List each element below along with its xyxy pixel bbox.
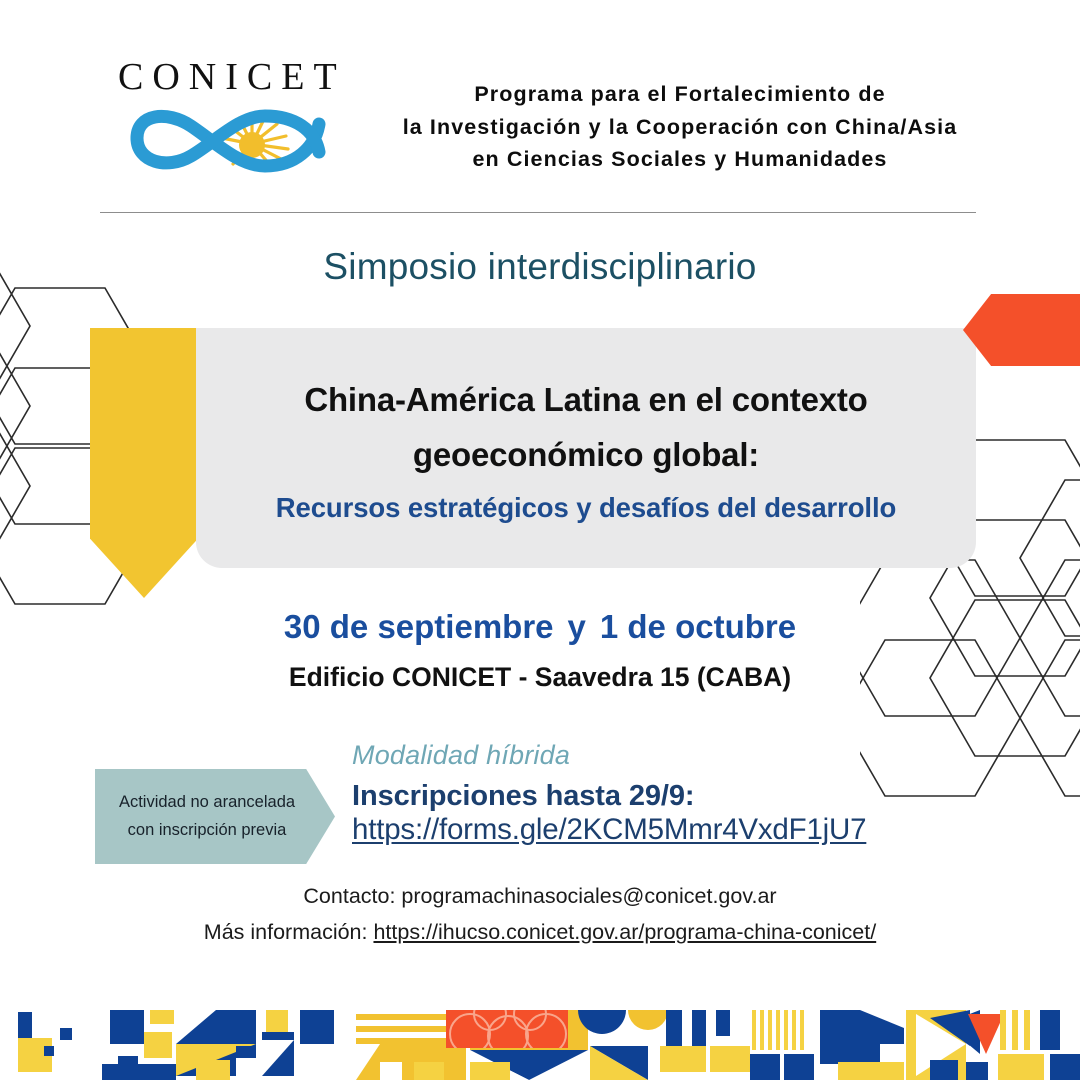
geometric-pattern-band (0, 984, 1080, 1080)
program-title: Programa para el Fortalecimiento de la I… (350, 78, 1010, 176)
poster-header: CONICET (0, 0, 1080, 200)
event-title-line-1: China-América Latina en el contexto (304, 372, 867, 427)
poster-canvas: CONICET (0, 0, 1080, 1080)
more-info-link[interactable]: https://ihucso.conicet.gov.ar/programa-c… (373, 920, 876, 944)
badge-line-2: con inscripción previa (119, 817, 295, 844)
conicet-infinity-sun-icon (112, 100, 338, 183)
event-subtitle: Recursos estratégicos y desafíos del des… (276, 492, 896, 524)
yellow-arrow-accent (90, 328, 198, 598)
registration-deadline: Inscripciones hasta 29/9: (352, 780, 866, 813)
program-title-line-2: la Investigación y la Cooperación con Ch… (350, 111, 1010, 144)
program-title-line-3: en Ciencias Sociales y Humanidades (350, 143, 1010, 176)
free-activity-badge: Actividad no arancelada con inscripción … (95, 769, 335, 864)
free-activity-badge-text: Actividad no arancelada con inscripción … (119, 789, 311, 843)
event-date-conjunction: y (568, 608, 586, 645)
event-date-part-2: 1 de octubre (600, 608, 796, 645)
program-title-line-1: Programa para el Fortalecimiento de (350, 78, 1010, 111)
badge-line-1: Actividad no arancelada (119, 789, 295, 816)
more-info-line: Más información: https://ihucso.conicet.… (0, 920, 1080, 945)
event-kicker: Simposio interdisciplinario (0, 246, 1080, 288)
red-arrow-accent (963, 294, 1080, 366)
event-title: China-América Latina en el contexto geoe… (304, 372, 867, 483)
header-divider (100, 212, 976, 213)
modality-label: Modalidad híbrida (352, 740, 866, 771)
infinity-ribbon (137, 116, 319, 166)
event-venue: Edificio CONICET - Saavedra 15 (CABA) (0, 662, 1080, 693)
conicet-wordmark: CONICET (112, 58, 338, 96)
more-info-label: Más información: (204, 920, 374, 944)
registration-block: Modalidad híbrida Inscripciones hasta 29… (352, 740, 866, 847)
event-date-part-1: 30 de septiembre (284, 608, 554, 645)
event-title-line-2: geoeconómico global: (304, 427, 867, 482)
contact-line: Contacto: programachinasociales@conicet.… (0, 884, 1080, 909)
event-date: 30 de septiembrey1 de octubre (0, 608, 1080, 646)
event-title-block: China-América Latina en el contexto geoe… (196, 328, 976, 568)
registration-form-link[interactable]: https://forms.gle/2KCM5Mmr4VxdF1jU7 (352, 813, 866, 846)
conicet-logo: CONICET (112, 58, 338, 188)
